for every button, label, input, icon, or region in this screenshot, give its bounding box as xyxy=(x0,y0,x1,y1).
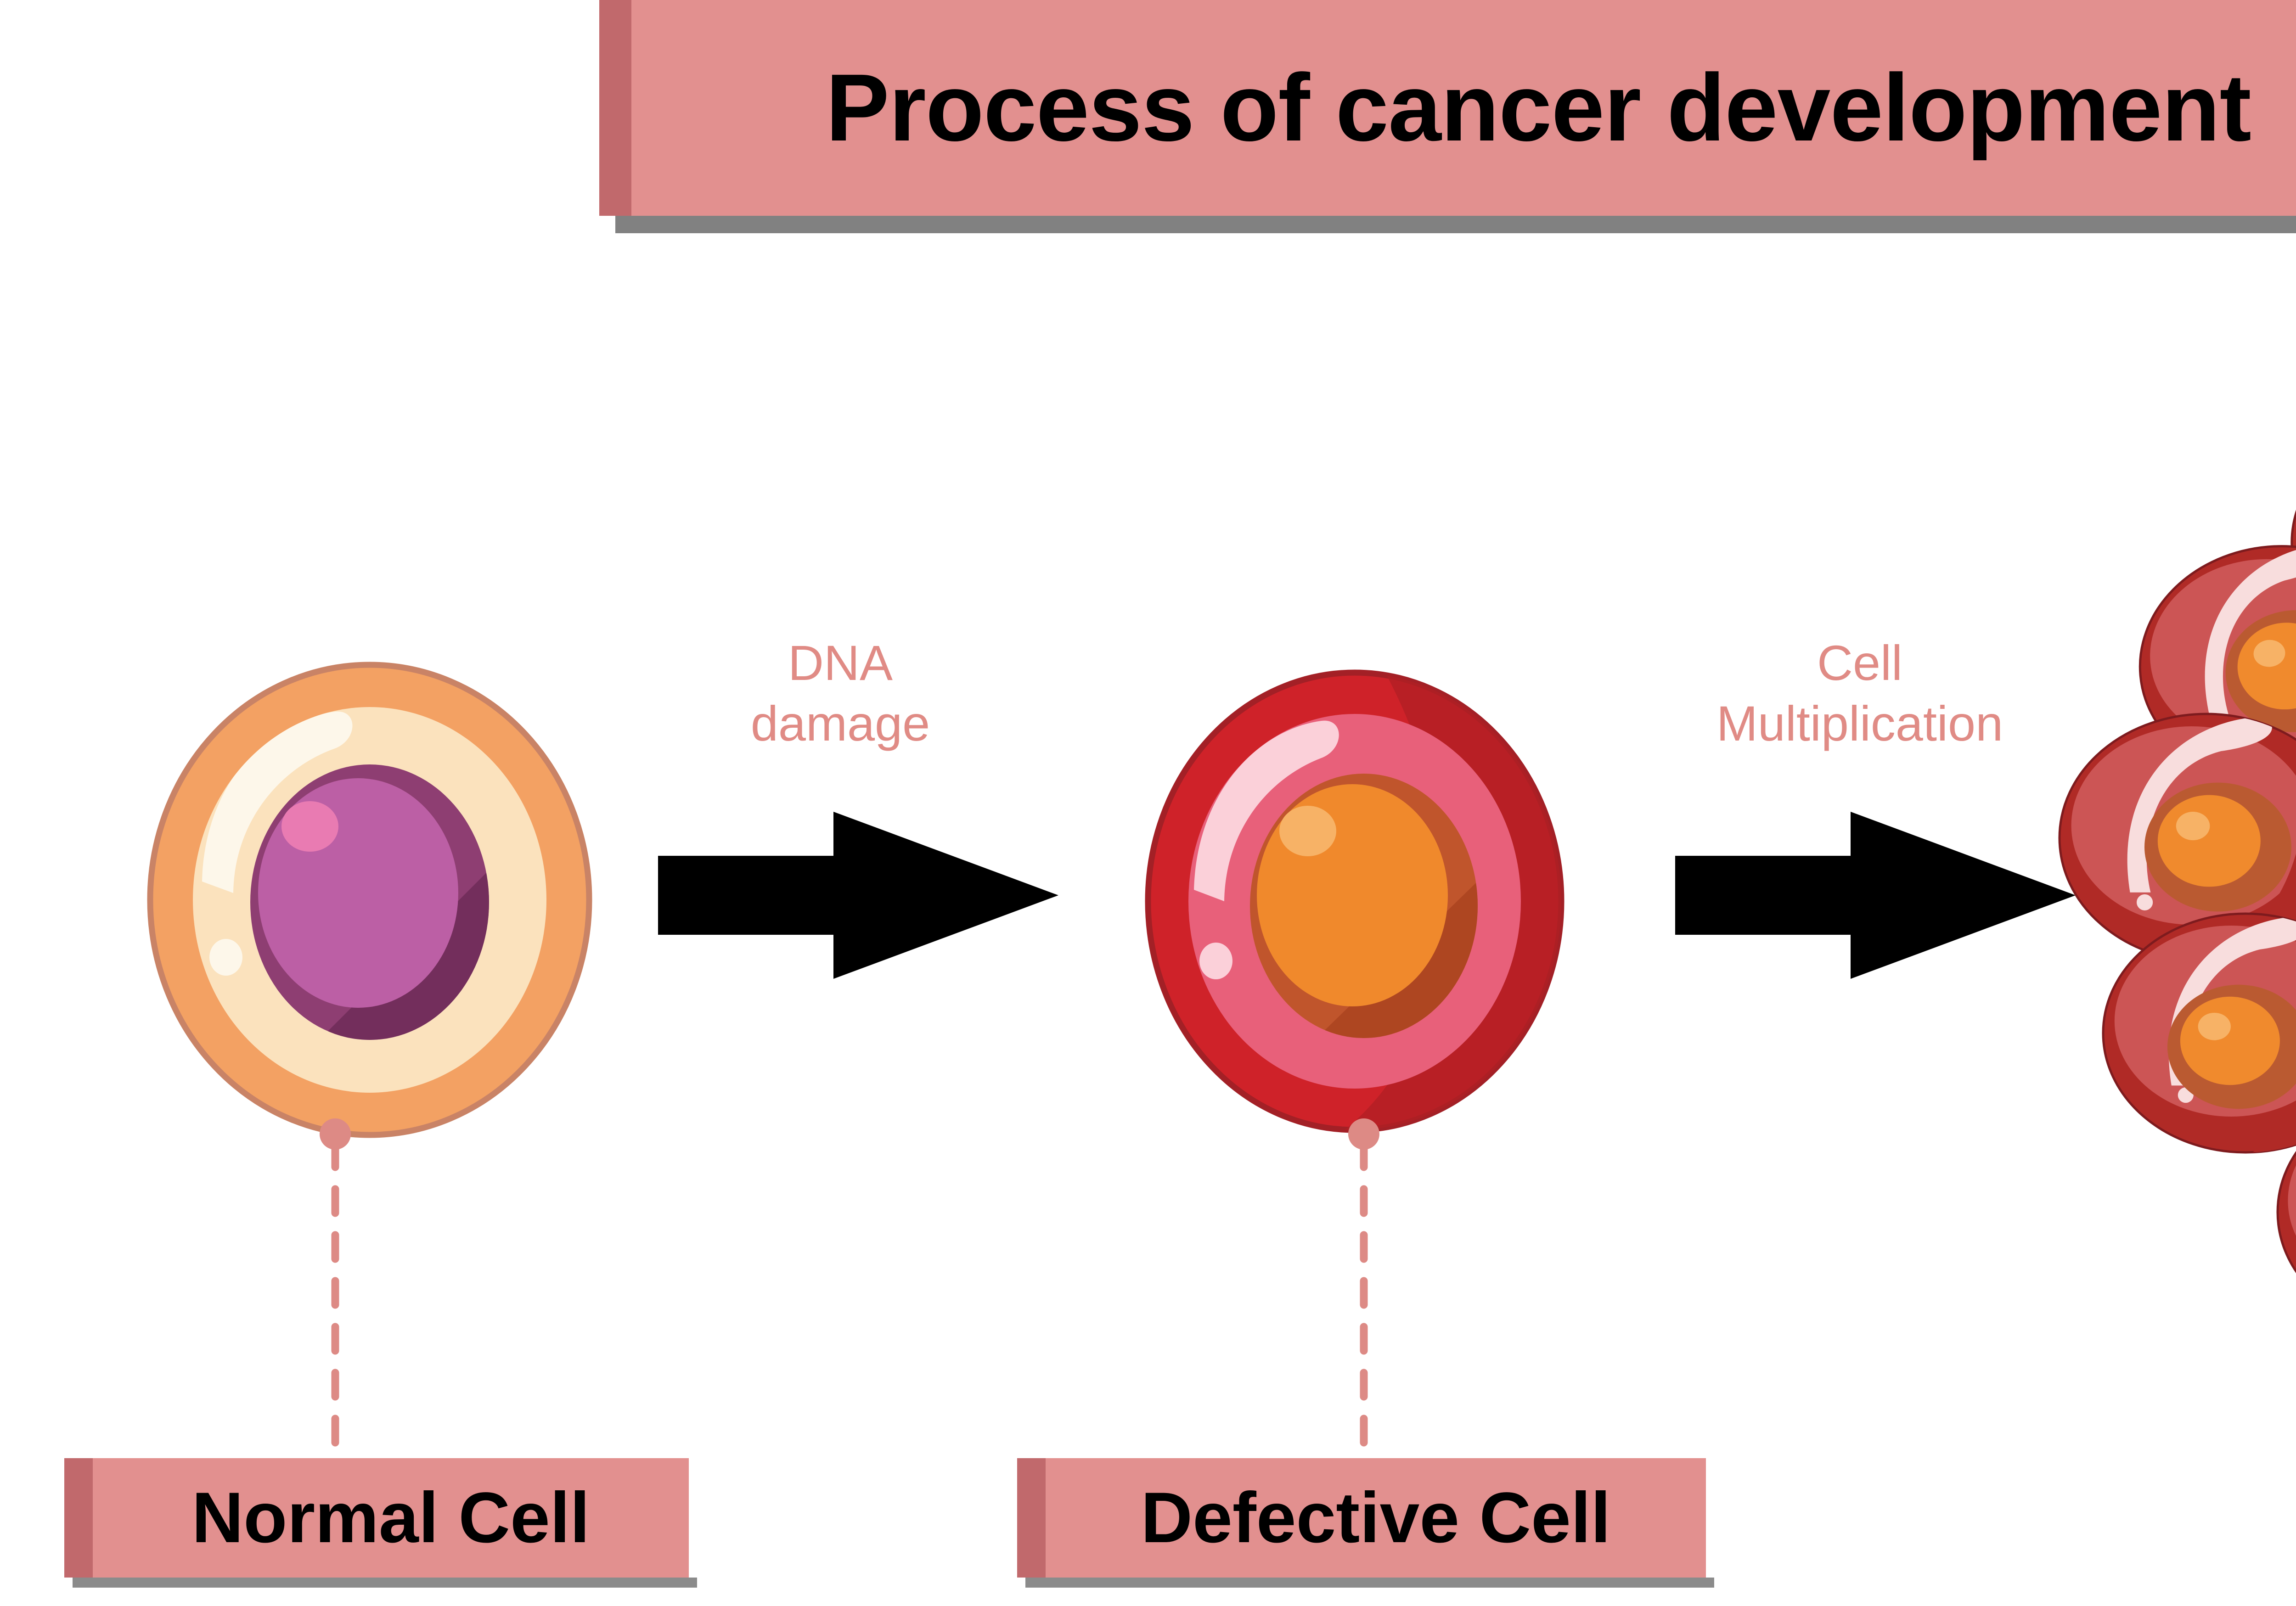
step-label-dna-damage: DNA damage xyxy=(611,633,1070,754)
diagram-canvas: Process of cancer development xyxy=(0,0,2296,1606)
title-banner: Process of cancer development xyxy=(599,0,2296,216)
cancer-cell-nucleus xyxy=(2180,997,2280,1085)
cancer-cell-cluster xyxy=(2043,386,2296,1387)
title-accent-bar xyxy=(599,0,631,216)
cancer-cell-gloss-dot xyxy=(2137,894,2153,910)
arrow-cell-multiplication xyxy=(1671,808,2085,983)
cancer-cell-nucleolus xyxy=(2176,812,2210,840)
cancer-cell-nucleolus xyxy=(2198,1013,2231,1040)
connector-normal-cell xyxy=(294,1116,377,1469)
caption-defective-cell: Defective Cell xyxy=(1017,1458,1706,1578)
cancer-cell-nucleus xyxy=(2158,795,2261,887)
caption-accent-bar xyxy=(1017,1458,1046,1578)
arrow-right-icon xyxy=(658,812,1058,979)
page-title: Process of cancer development xyxy=(631,0,2296,216)
caption-shadow xyxy=(1025,1578,1714,1588)
defective-cell-small-gloss xyxy=(1199,943,1232,979)
connector-defective-cell xyxy=(1322,1116,1405,1469)
arrow-dna-damage xyxy=(654,808,1068,983)
normal-cell-graphic xyxy=(119,643,625,1157)
caption-accent-bar xyxy=(64,1458,93,1578)
caption-shadow xyxy=(73,1578,697,1588)
caption-label: Defective Cell xyxy=(1046,1458,1706,1578)
defective-cell-nucleolus xyxy=(1279,806,1336,856)
title-banner-shadow xyxy=(615,216,2296,233)
defective-cell-graphic xyxy=(1116,651,1593,1151)
normal-cell-small-gloss xyxy=(209,939,242,976)
step-label-cell-multiplication: Cell Multiplication xyxy=(1589,633,2131,754)
caption-normal-cell: Normal Cell xyxy=(64,1458,689,1578)
caption-label: Normal Cell xyxy=(93,1458,689,1578)
arrow-right-icon xyxy=(1675,812,2076,979)
normal-cell-nucleolus xyxy=(281,801,338,852)
